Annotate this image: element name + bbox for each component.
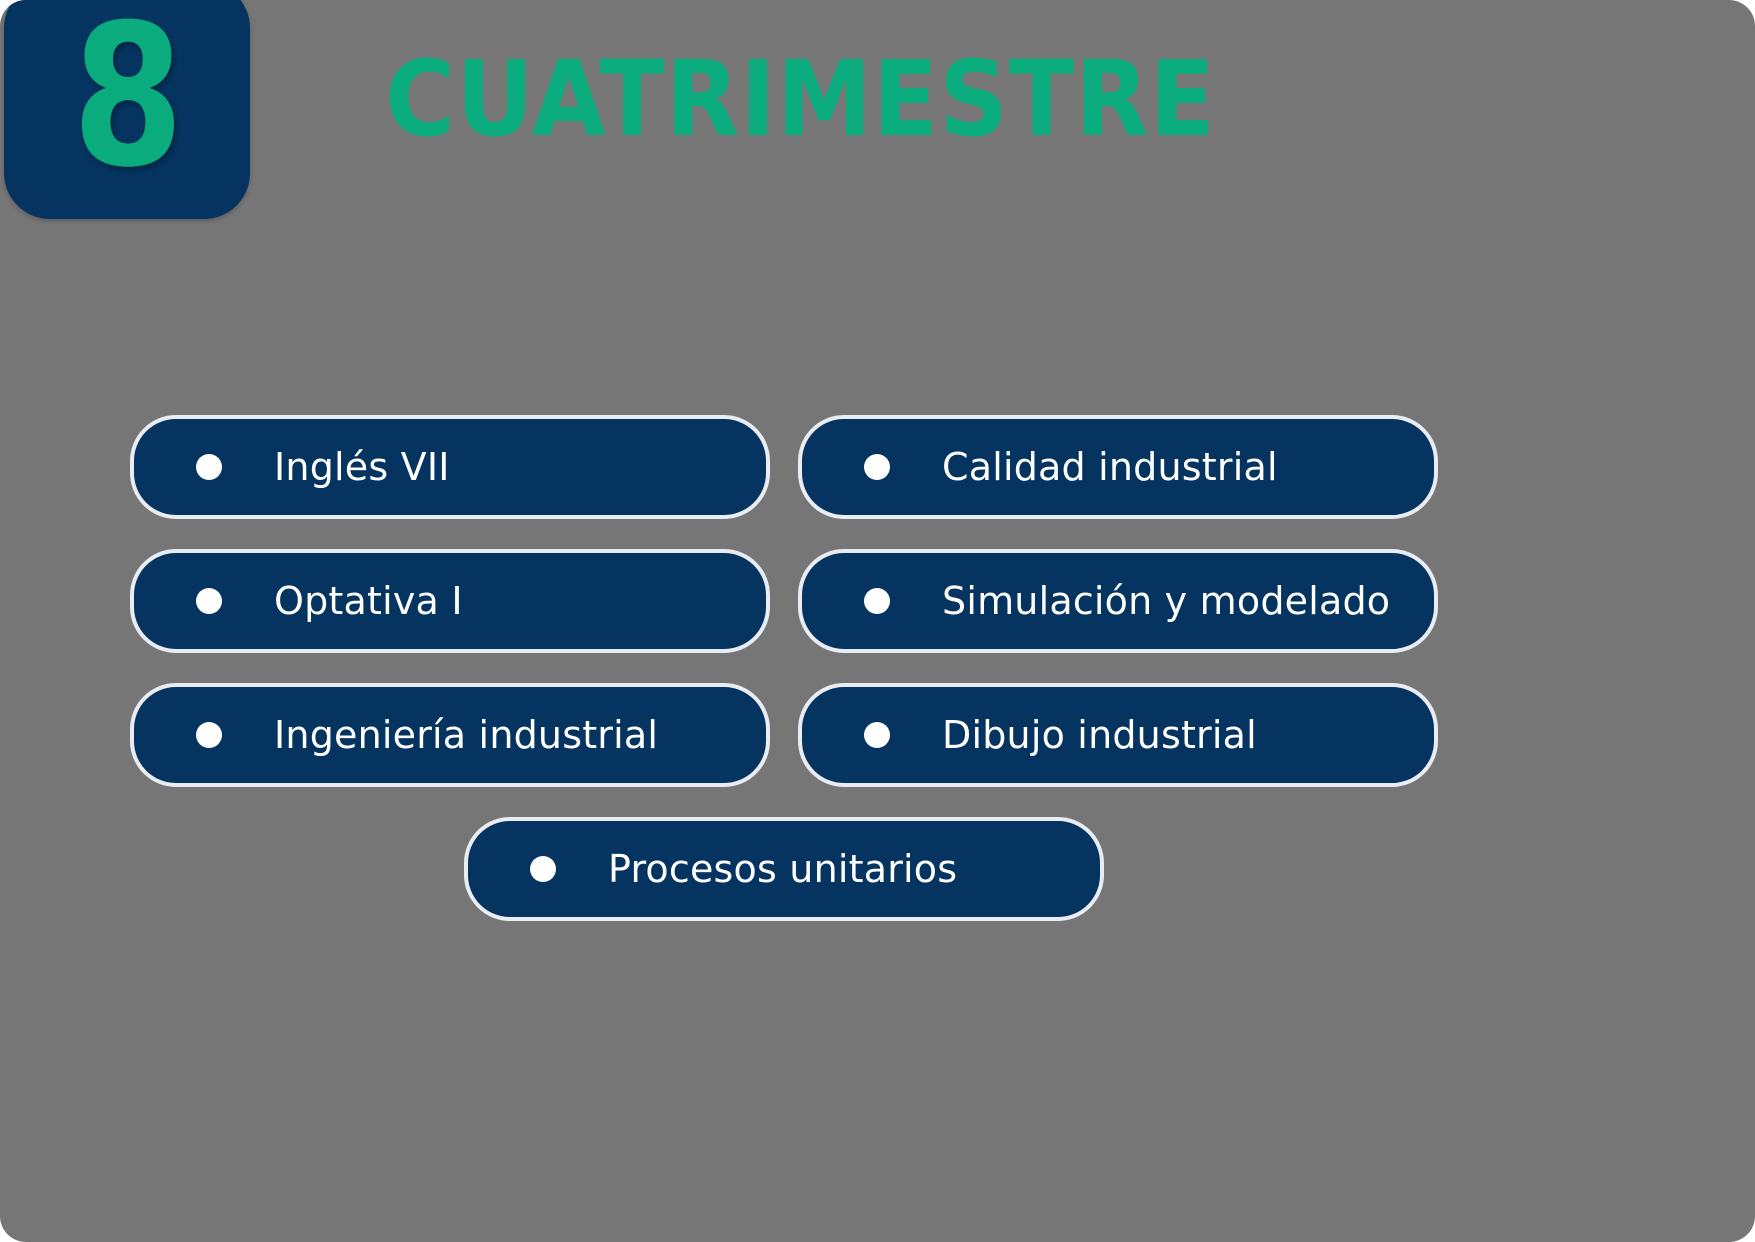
bullet-dot-icon	[864, 722, 890, 748]
bullet-dot-icon	[196, 588, 222, 614]
subject-label: Inglés VII	[274, 445, 450, 489]
subject-pill-dibujo-industrial[interactable]: Dibujo industrial	[798, 683, 1438, 787]
bullet-dot-icon	[196, 722, 222, 748]
subject-label: Simulación y modelado	[942, 579, 1390, 623]
subject-list: Inglés VII Optativa I Ingeniería industr…	[0, 0, 1755, 1242]
subject-pill-ingenieria-industrial[interactable]: Ingeniería industrial	[130, 683, 770, 787]
cuatrimestre-card: 8 CUATRIMESTRE Inglés VII Optativa I Ing…	[0, 0, 1755, 1242]
subject-pill-optativa-i[interactable]: Optativa I	[130, 549, 770, 653]
subject-label: Dibujo industrial	[942, 713, 1257, 757]
subject-label: Calidad industrial	[942, 445, 1278, 489]
bullet-dot-icon	[864, 454, 890, 480]
bullet-dot-icon	[196, 454, 222, 480]
subject-pill-simulacion-y-modelado[interactable]: Simulación y modelado	[798, 549, 1438, 653]
subject-pill-ingles-vii[interactable]: Inglés VII	[130, 415, 770, 519]
subject-label: Ingeniería industrial	[274, 713, 658, 757]
subject-label: Optativa I	[274, 579, 463, 623]
subject-pill-calidad-industrial[interactable]: Calidad industrial	[798, 415, 1438, 519]
subject-label: Procesos unitarios	[608, 847, 957, 891]
bullet-dot-icon	[864, 588, 890, 614]
bullet-dot-icon	[530, 856, 556, 882]
subject-pill-procesos-unitarios[interactable]: Procesos unitarios	[464, 817, 1104, 921]
